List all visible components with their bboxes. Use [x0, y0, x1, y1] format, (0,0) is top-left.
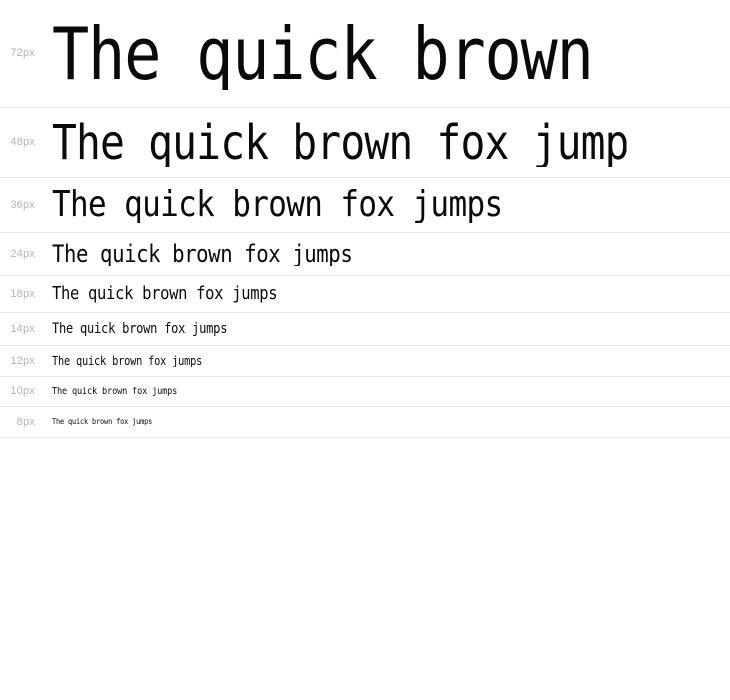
sample-text: The quick brown fox jumps: [52, 355, 626, 367]
size-label: 18px: [0, 289, 35, 300]
size-label: 14px: [0, 324, 35, 335]
sample-text: The quick brown fox jumps: [52, 242, 626, 266]
specimen-row: 12px The quick brown fox jumps: [0, 346, 730, 377]
size-label: 48px: [0, 137, 35, 148]
specimen-row: 8px The quick brown fox jumps: [0, 407, 730, 438]
sample-text: The quick brown fox jumps: [52, 187, 626, 223]
font-specimen-sheet: 72px The quick brown fox jumps 48px The …: [0, 0, 730, 700]
size-label: 12px: [0, 356, 35, 367]
sample-text: The quick brown fox jumps: [52, 18, 626, 90]
size-label: 10px: [0, 386, 35, 397]
size-label: 72px: [0, 48, 35, 59]
size-label: 24px: [0, 249, 35, 260]
size-label: 8px: [0, 417, 35, 428]
specimen-row: 48px The quick brown fox jumps: [0, 108, 730, 178]
specimen-row: 72px The quick brown fox jumps: [0, 0, 730, 108]
specimen-row: 24px The quick brown fox jumps: [0, 233, 730, 276]
sample-text: The quick brown fox jumps: [52, 285, 626, 303]
specimen-row: 10px The quick brown fox jumps: [0, 377, 730, 407]
specimen-row: 18px The quick brown fox jumps: [0, 276, 730, 313]
sample-text: The quick brown fox jumps: [52, 387, 626, 397]
specimen-row: 14px The quick brown fox jumps: [0, 313, 730, 346]
sample-text: The quick brown fox jumps: [52, 418, 626, 426]
sample-text: The quick brown fox jumps: [52, 322, 626, 336]
specimen-row: 36px The quick brown fox jumps: [0, 178, 730, 233]
size-label: 36px: [0, 200, 35, 211]
sample-text: The quick brown fox jumps: [52, 119, 626, 167]
